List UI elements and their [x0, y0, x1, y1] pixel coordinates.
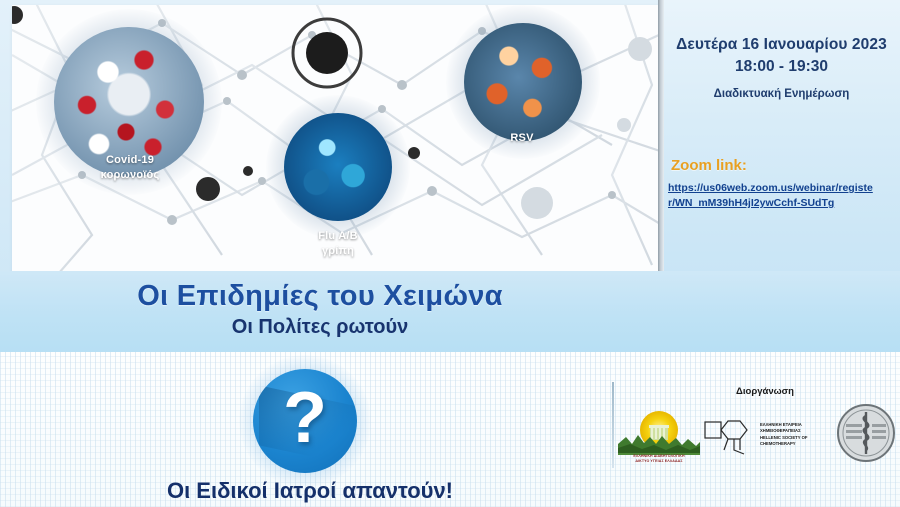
flu-core — [284, 113, 392, 221]
zoom-link-label: Zoom link: — [671, 157, 747, 174]
logo1-caption: ΕΛΛΗΝΙΚΗ ΔΙΑΒΗΤΟΛΟΓΙΚΗ ΔΙΚΤΥΟ ΥΓΕΙΑΣ ΕΛΛ… — [616, 454, 702, 464]
question-mark-icon: ? — [253, 369, 357, 473]
organizers-label: Διοργάνωση — [700, 386, 830, 397]
question-circle: ? — [253, 369, 357, 473]
closing-statement: Οι Ειδικοί Ιατροί απαντούν! — [0, 478, 620, 504]
event-time: 18:00 - 19:30 — [663, 58, 900, 76]
logo2-caption-en: HELLENIC SOCIETY OF CHEMOTHERAPY — [760, 435, 832, 448]
logo-elliniki-diatrofi: ΕΛΛΗΝΙΚΗ ΔΙΑΒΗΤΟΛΟΓΙΚΗ ΔΙΚΤΥΟ ΥΓΕΙΑΣ ΕΛΛ… — [616, 404, 702, 464]
virus-label-rsv: RSV — [482, 131, 562, 146]
logo2-caption: ΕΛΛΗΝΙΚΗ ΕΤΑΙΡΕΙΑ ΧΗΜΕΙΟΘΕΡΑΠΕΙΑΣ HELLEN… — [760, 422, 832, 447]
virus-flu-ab — [284, 113, 392, 221]
logo-hellenic-society-chemotherapy: ΕΛΛΗΝΙΚΗ ΕΤΑΙΡΕΙΑ ΧΗΜΕΙΟΘΕΡΑΠΕΙΑΣ HELLEN… — [702, 410, 832, 458]
logo2-caption-gr: ΕΛΛΗΝΙΚΗ ΕΤΑΙΡΕΙΑ ΧΗΜΕΙΟΘΕΡΑΠΕΙΑΣ — [760, 422, 832, 435]
virus-network-image: Covid-19 κορωνοϊός Flu A/B γρίπη RSV — [12, 5, 660, 271]
virus-label-covid19: Covid-19 κορωνοϊός — [70, 153, 190, 183]
question-mark-graphic: ? — [253, 369, 357, 473]
page-subtitle: Οι Πολίτες ρωτούν — [0, 316, 640, 339]
virus-label-flu: Flu A/B γρίπη — [290, 229, 386, 259]
organizer-logos: ΕΛΛΗΝΙΚΗ ΔΙΑΒΗΤΟΛΟΓΙΚΗ ΔΙΚΤΥΟ ΥΓΕΙΑΣ ΕΛΛ… — [612, 400, 900, 470]
rsv-core — [464, 23, 582, 141]
webinar-poster: Covid-19 κορωνοϊός Flu A/B γρίπη RSV Δευ… — [0, 0, 900, 507]
zoom-registration-link[interactable]: https://us06web.zoom.us/webinar/register… — [668, 181, 878, 211]
event-date: Δευτέρα 16 Ιανουαρίου 2023 — [663, 36, 900, 54]
event-mode: Διαδικτυακή Ενημέρωση — [663, 88, 900, 100]
chemical-structure-icon — [702, 410, 758, 458]
logo-asclepius-seal — [836, 402, 896, 464]
virus-rsv — [464, 23, 582, 141]
page-title: Οι Επιδημίες του Χειμώνα — [0, 280, 640, 313]
asclepius-seal-icon — [836, 402, 896, 464]
